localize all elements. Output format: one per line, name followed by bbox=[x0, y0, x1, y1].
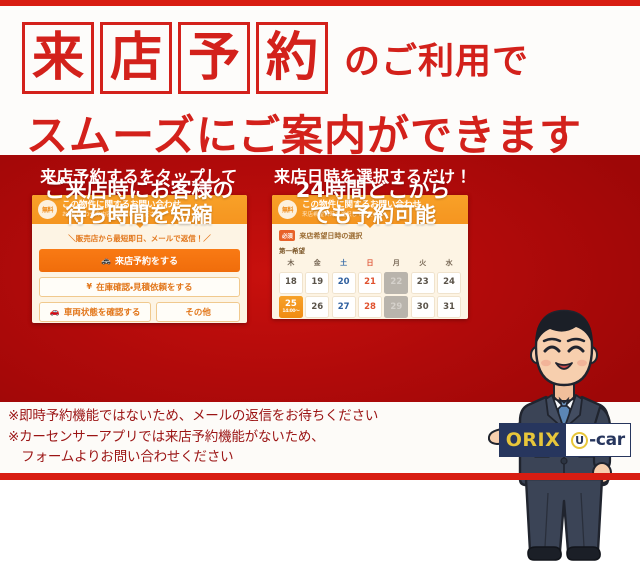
calendar-day-cell[interactable]: 30 bbox=[411, 296, 435, 318]
weekday-header: 月 bbox=[384, 258, 408, 269]
headline-kanji-4: 約 bbox=[256, 22, 328, 94]
calendar-day-cell[interactable]: 24 bbox=[437, 272, 461, 294]
ucar-u-glyph: U bbox=[571, 432, 588, 449]
day-number: 22 bbox=[390, 278, 402, 287]
day-number: 30 bbox=[417, 303, 429, 312]
secondary-button-row: 🚗 車両状態を確認する その他 bbox=[39, 297, 240, 322]
calendar-day-cell-selected[interactable]: 25 14:00〜 bbox=[279, 296, 303, 318]
inquiry-form-body: ＼販売店から最短即日、メールで返信！／ 🚓 来店予約をする ¥ 在庫確認・見積依… bbox=[32, 224, 247, 322]
vehicle-condition-button-label: 車両状態を確認する bbox=[64, 306, 141, 318]
weekday-header: 土 bbox=[332, 258, 356, 269]
calendar-grid: 木 金 土 日 月 火 水 18 19 20 21 22 23 24 bbox=[279, 258, 461, 318]
weekday-header: 金 bbox=[305, 258, 329, 269]
calendar-day-cell[interactable]: 18 bbox=[279, 272, 303, 294]
headline-line-1: 来 店 予 約 のご利用で bbox=[22, 22, 529, 94]
day-number: 27 bbox=[338, 303, 350, 312]
headline-kanji-3: 予 bbox=[178, 22, 250, 94]
car-icon: 🚗 bbox=[50, 308, 60, 316]
left-column-caption: ご来店時にお客様の 待ち時間を短縮 bbox=[14, 178, 264, 228]
day-number: 25 bbox=[285, 300, 297, 309]
calendar-day-cell[interactable]: 23 bbox=[411, 272, 435, 294]
store-icon: 🚓 bbox=[101, 257, 111, 265]
disclaimer-notes: ※即時予約機能ではないため、メールの返信をお待ちください ※カーセンサーアプリで… bbox=[8, 406, 448, 468]
headline-line-2: スムーズにご案内ができます bbox=[26, 102, 582, 163]
day-number: 24 bbox=[443, 278, 455, 287]
headline-tail-text: のご利用で bbox=[344, 32, 529, 84]
weekday-header: 日 bbox=[358, 258, 382, 269]
other-inquiry-button-label: その他 bbox=[185, 306, 211, 318]
vehicle-condition-button[interactable]: 🚗 車両状態を確認する bbox=[39, 302, 151, 322]
calendar-body: 必須 来店希望日時の選択 第一希望 木 金 土 日 月 火 水 18 19 bbox=[272, 224, 468, 318]
calendar-day-cell[interactable]: 20 bbox=[332, 272, 356, 294]
headline-kanji-2: 店 bbox=[100, 22, 172, 94]
day-number: 29 bbox=[390, 303, 402, 312]
weekday-header: 水 bbox=[437, 258, 461, 269]
ucar-wordmark: U -car bbox=[566, 424, 630, 456]
weekday-header: 木 bbox=[279, 258, 303, 269]
right-column-caption: 24時間どこから でも予約可能 bbox=[266, 178, 480, 228]
bottom-red-rule bbox=[0, 473, 640, 480]
calendar-day-cell-disabled: 22 bbox=[384, 272, 408, 294]
calendar-day-cell[interactable]: 26 bbox=[305, 296, 329, 318]
calendar-day-cell[interactable]: 28 bbox=[358, 296, 382, 318]
calendar-day-cell-disabled: 29 bbox=[384, 296, 408, 318]
calendar-day-cell[interactable]: 27 bbox=[332, 296, 356, 318]
stock-quote-button[interactable]: ¥ 在庫確認・見積依頼をする bbox=[39, 277, 240, 297]
weekday-header: 火 bbox=[411, 258, 435, 269]
day-number: 26 bbox=[311, 303, 323, 312]
day-number: 23 bbox=[417, 278, 429, 287]
calendar-section-label: 来店希望日時の選択 bbox=[299, 231, 362, 241]
calendar-day-cell[interactable]: 21 bbox=[358, 272, 382, 294]
inquiry-lead-text: ＼販売店から最短即日、メールで返信！／ bbox=[39, 233, 240, 244]
day-number: 18 bbox=[285, 278, 297, 287]
day-number: 28 bbox=[364, 303, 376, 312]
headline-kanji-1: 来 bbox=[22, 22, 94, 94]
reserve-visit-button-label: 来店予約をする bbox=[115, 254, 178, 267]
day-number: 20 bbox=[338, 278, 350, 287]
calendar-section-header: 必須 来店希望日時の選択 bbox=[279, 230, 461, 241]
ucar-car-text: -car bbox=[589, 430, 625, 450]
calendar-day-cell[interactable]: 31 bbox=[437, 296, 461, 318]
reservation-banner: 来 店 予 約 のご利用で スムーズにご案内ができます 来店予約するをタップして… bbox=[0, 0, 640, 480]
orix-wordmark: ORIX bbox=[500, 424, 566, 456]
headline-section: 来 店 予 約 のご利用で スムーズにご案内ができます bbox=[0, 6, 640, 155]
day-number: 31 bbox=[443, 303, 455, 312]
reserve-visit-button[interactable]: 🚓 来店予約をする bbox=[39, 249, 240, 272]
other-inquiry-button[interactable]: その他 bbox=[156, 302, 240, 322]
day-number: 19 bbox=[311, 278, 323, 287]
day-number: 21 bbox=[364, 278, 376, 287]
day-timeslot: 14:00〜 bbox=[282, 310, 299, 315]
required-badge: 必須 bbox=[279, 230, 295, 241]
preference-label: 第一希望 bbox=[279, 245, 461, 255]
stock-quote-button-label: 在庫確認・見積依頼をする bbox=[96, 281, 192, 293]
yen-icon: ¥ bbox=[87, 283, 93, 291]
orix-ucar-logo: ORIX U -car bbox=[499, 423, 631, 457]
calendar-day-cell[interactable]: 19 bbox=[305, 272, 329, 294]
